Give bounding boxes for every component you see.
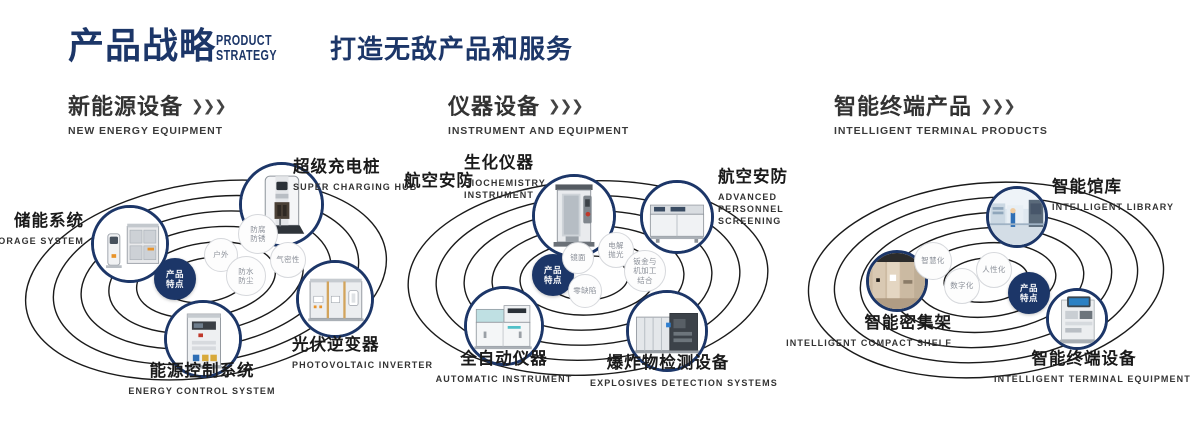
page-title-english-line2: STRATEGY xyxy=(216,49,277,64)
cluster-instrument-and-equipment: 航空安防 生化仪器 BIOCHEMIS xyxy=(392,150,792,410)
smart-library-icon xyxy=(989,189,1045,245)
section-title-cn: 仪器设备❯❯❯ xyxy=(448,94,629,119)
product-label-cn: 能源控制系统 xyxy=(102,362,302,382)
section-title-instrument: 仪器设备❯❯❯ INSTRUMENT AND EQUIPMENT xyxy=(448,94,629,137)
product-label: 智能馆库 INTELLIGENT LIBRARY xyxy=(1052,178,1174,213)
page-subtitle: 打造无敌产品和服务 xyxy=(330,36,573,62)
product-label: 能源控制系统 ENERGY CONTROL SYSTEM xyxy=(102,362,302,397)
inverter-cabinet-icon xyxy=(299,263,371,335)
product-label-cn: 爆炸物检测设备 xyxy=(590,354,746,374)
screening-machine-icon xyxy=(643,183,711,251)
core-feature-label: 产品特点 xyxy=(542,265,564,285)
product-bubble[interactable] xyxy=(296,260,374,338)
feature-bubble[interactable]: 数字化 xyxy=(944,268,980,304)
feature-bubble[interactable]: 气密性 xyxy=(270,242,306,278)
section-title-en: INSTRUMENT AND EQUIPMENT xyxy=(448,125,629,137)
feature-label: 防水防尘 xyxy=(237,267,255,286)
page-title-english: PRODUCT STRATEGY xyxy=(216,34,277,63)
product-label: 智能密集架 INTELLIGENT COMPACT SHELF xyxy=(770,314,952,349)
feature-bubble[interactable]: 镜面 xyxy=(562,242,594,274)
product-strategy-infographic: 产品战略 PRODUCT STRATEGY 打造无敌产品和服务 新能源设备❯❯❯… xyxy=(0,0,1200,422)
cluster-new-energy-equipment: 储能系统 ENERGY STORAGE SYSTEM xyxy=(6,150,406,410)
product-label-en: INTELLIGENT LIBRARY xyxy=(1052,201,1174,213)
core-feature-bubble[interactable]: 产品特点 xyxy=(1008,272,1050,314)
feature-label: 智慧化 xyxy=(920,256,946,265)
core-feature-label: 产品特点 xyxy=(164,269,186,289)
feature-bubble[interactable]: 智慧化 xyxy=(914,242,952,280)
section-title-intelligent-terminal: 智能终端产品❯❯❯ INTELLIGENT TERMINAL PRODUCTS xyxy=(834,94,1048,137)
section-title-cn: 新能源设备❯❯❯ xyxy=(68,94,226,119)
product-label: 生化仪器 BIOCHEMISTRY INSTRUMENT xyxy=(464,154,534,201)
feature-label: 钣金与机加工结合 xyxy=(631,257,659,285)
section-title-cn-text: 新能源设备 xyxy=(68,94,183,119)
self-service-kiosk-icon xyxy=(1049,291,1105,347)
section-title-cn: 智能终端产品❯❯❯ xyxy=(834,94,1048,119)
feature-label: 镜面 xyxy=(567,253,589,262)
feature-label: 数字化 xyxy=(949,281,975,290)
product-label-en: INTELLIGENT COMPACT SHELF xyxy=(770,337,952,349)
feature-label: 户外 xyxy=(209,250,233,259)
feature-bubble[interactable]: 钣金与机加工结合 xyxy=(624,250,666,292)
product-label-en: INTELLIGENT TERMINAL EQUIPMENT xyxy=(994,373,1174,385)
cluster-intelligent-terminal-products: 智能馆库 INTELLIGENT LIBRARY xyxy=(796,150,1196,410)
product-label-cn: 智能馆库 xyxy=(1052,178,1174,198)
product-label-en: AUTOMATIC INSTRUMENT xyxy=(420,373,588,385)
feature-bubble[interactable]: 防水防尘 xyxy=(226,256,266,296)
product-label: 全自动仪器 AUTOMATIC INSTRUMENT xyxy=(420,350,588,385)
product-label-en: ENERGY CONTROL SYSTEM xyxy=(102,385,302,397)
product-bubble[interactable] xyxy=(640,180,714,254)
section-title-en: NEW ENERGY EQUIPMENT xyxy=(68,125,226,137)
page-title: 产品战略 xyxy=(68,28,216,64)
feature-label: 零缺陷 xyxy=(572,286,598,295)
feature-label: 防腐防锈 xyxy=(249,225,267,244)
product-bubble[interactable] xyxy=(986,186,1048,248)
product-label-cn: 智能终端设备 xyxy=(994,350,1174,370)
product-label-en: BIOCHEMISTRY INSTRUMENT xyxy=(464,177,520,201)
product-label-cn: 储能系统 xyxy=(0,212,84,232)
product-label-en: EXPLOSIVES DETECTION SYSTEMS xyxy=(590,377,746,389)
feature-label: 电解抛光 xyxy=(607,241,625,260)
feature-bubble[interactable]: 人性化 xyxy=(976,252,1012,288)
product-label: 爆炸物检测设备 EXPLOSIVES DETECTION SYSTEMS xyxy=(590,354,746,389)
product-label-cn: 生化仪器 xyxy=(464,154,534,174)
core-feature-bubble[interactable]: 产品特点 xyxy=(154,258,196,300)
feature-label: 气密性 xyxy=(275,255,301,264)
product-label-cn: 全自动仪器 xyxy=(420,350,588,370)
feature-bubble[interactable]: 防腐防锈 xyxy=(238,214,278,254)
section-title-en: INTELLIGENT TERMINAL PRODUCTS xyxy=(834,125,1048,137)
product-label: 储能系统 ENERGY STORAGE SYSTEM xyxy=(0,212,84,247)
core-feature-label: 产品特点 xyxy=(1018,283,1040,303)
feature-bubble[interactable]: 零缺陷 xyxy=(568,274,602,308)
section-title-cn-text: 仪器设备 xyxy=(448,94,540,119)
chevron-right-triple-icon: ❯❯❯ xyxy=(548,98,583,115)
chevron-right-triple-icon: ❯❯❯ xyxy=(191,98,226,115)
product-label-en: ENERGY STORAGE SYSTEM xyxy=(0,235,84,247)
chevron-right-triple-icon: ❯❯❯ xyxy=(980,98,1015,115)
product-label-cn: 智能密集架 xyxy=(770,314,952,334)
feature-label: 人性化 xyxy=(981,265,1007,274)
section-title-cn-text: 智能终端产品 xyxy=(834,94,972,119)
product-bubble[interactable] xyxy=(1046,288,1108,350)
product-label: 智能终端设备 INTELLIGENT TERMINAL EQUIPMENT xyxy=(994,350,1174,385)
section-title-new-energy: 新能源设备❯❯❯ NEW ENERGY EQUIPMENT xyxy=(68,94,226,137)
